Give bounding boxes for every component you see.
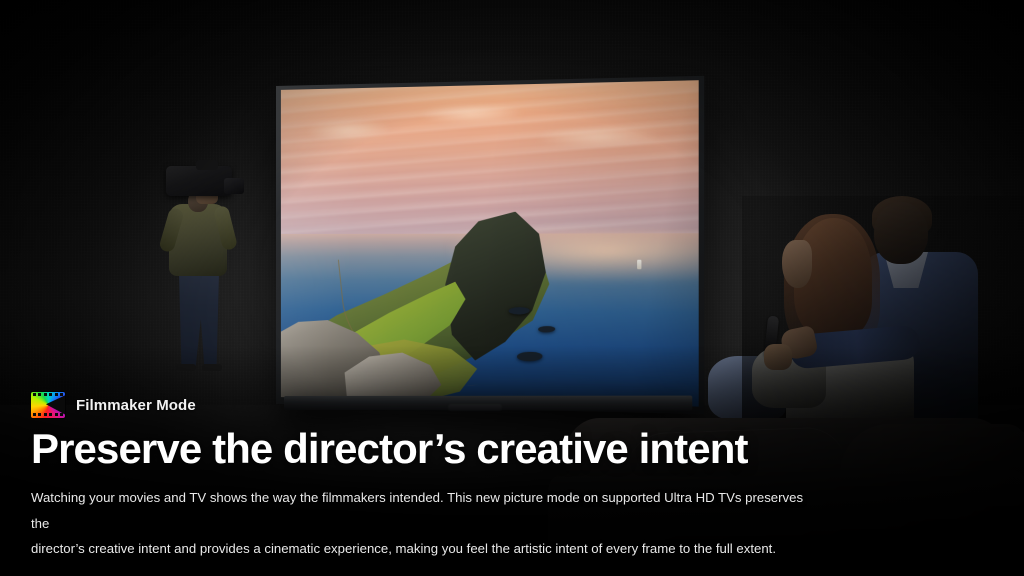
filmmaker-mode-logo-icon [31, 392, 65, 418]
body-copy-line-1: Watching your movies and TV shows the wa… [31, 485, 821, 536]
body-copy-line-2: director’s creative intent and provides … [31, 536, 821, 561]
page-title: Preserve the director’s creative intent [31, 426, 851, 471]
film-sprockets-bottom [31, 413, 65, 417]
tv-body [276, 76, 704, 414]
film-sprockets-top [31, 393, 65, 397]
tv-screen [281, 80, 699, 406]
screen-lighthouse [637, 260, 641, 270]
woman-hand [764, 344, 792, 370]
play-wedge-shape [46, 395, 65, 415]
filmmaker-mode-label: Filmmaker Mode [76, 397, 196, 414]
cameraman-legs [176, 264, 222, 370]
overlay-copy: Filmmaker Mode Preserve the director’s c… [31, 392, 851, 561]
camera-top-handle [196, 160, 218, 170]
cameraman-figure [152, 160, 248, 370]
man-head [874, 202, 928, 264]
video-camera-icon [166, 166, 232, 196]
tv-bezel [276, 76, 704, 414]
cameraman-shoe-left [176, 364, 196, 371]
cameraman-shoe-right [202, 364, 222, 371]
filmmaker-mode-badge: Filmmaker Mode [31, 392, 851, 418]
woman-face [782, 240, 812, 288]
camera-lens [224, 178, 244, 194]
television [276, 86, 686, 404]
filmmaker-mode-banner: Filmmaker Mode Preserve the director’s c… [0, 0, 1024, 576]
body-copy: Watching your movies and TV shows the wa… [31, 485, 821, 561]
